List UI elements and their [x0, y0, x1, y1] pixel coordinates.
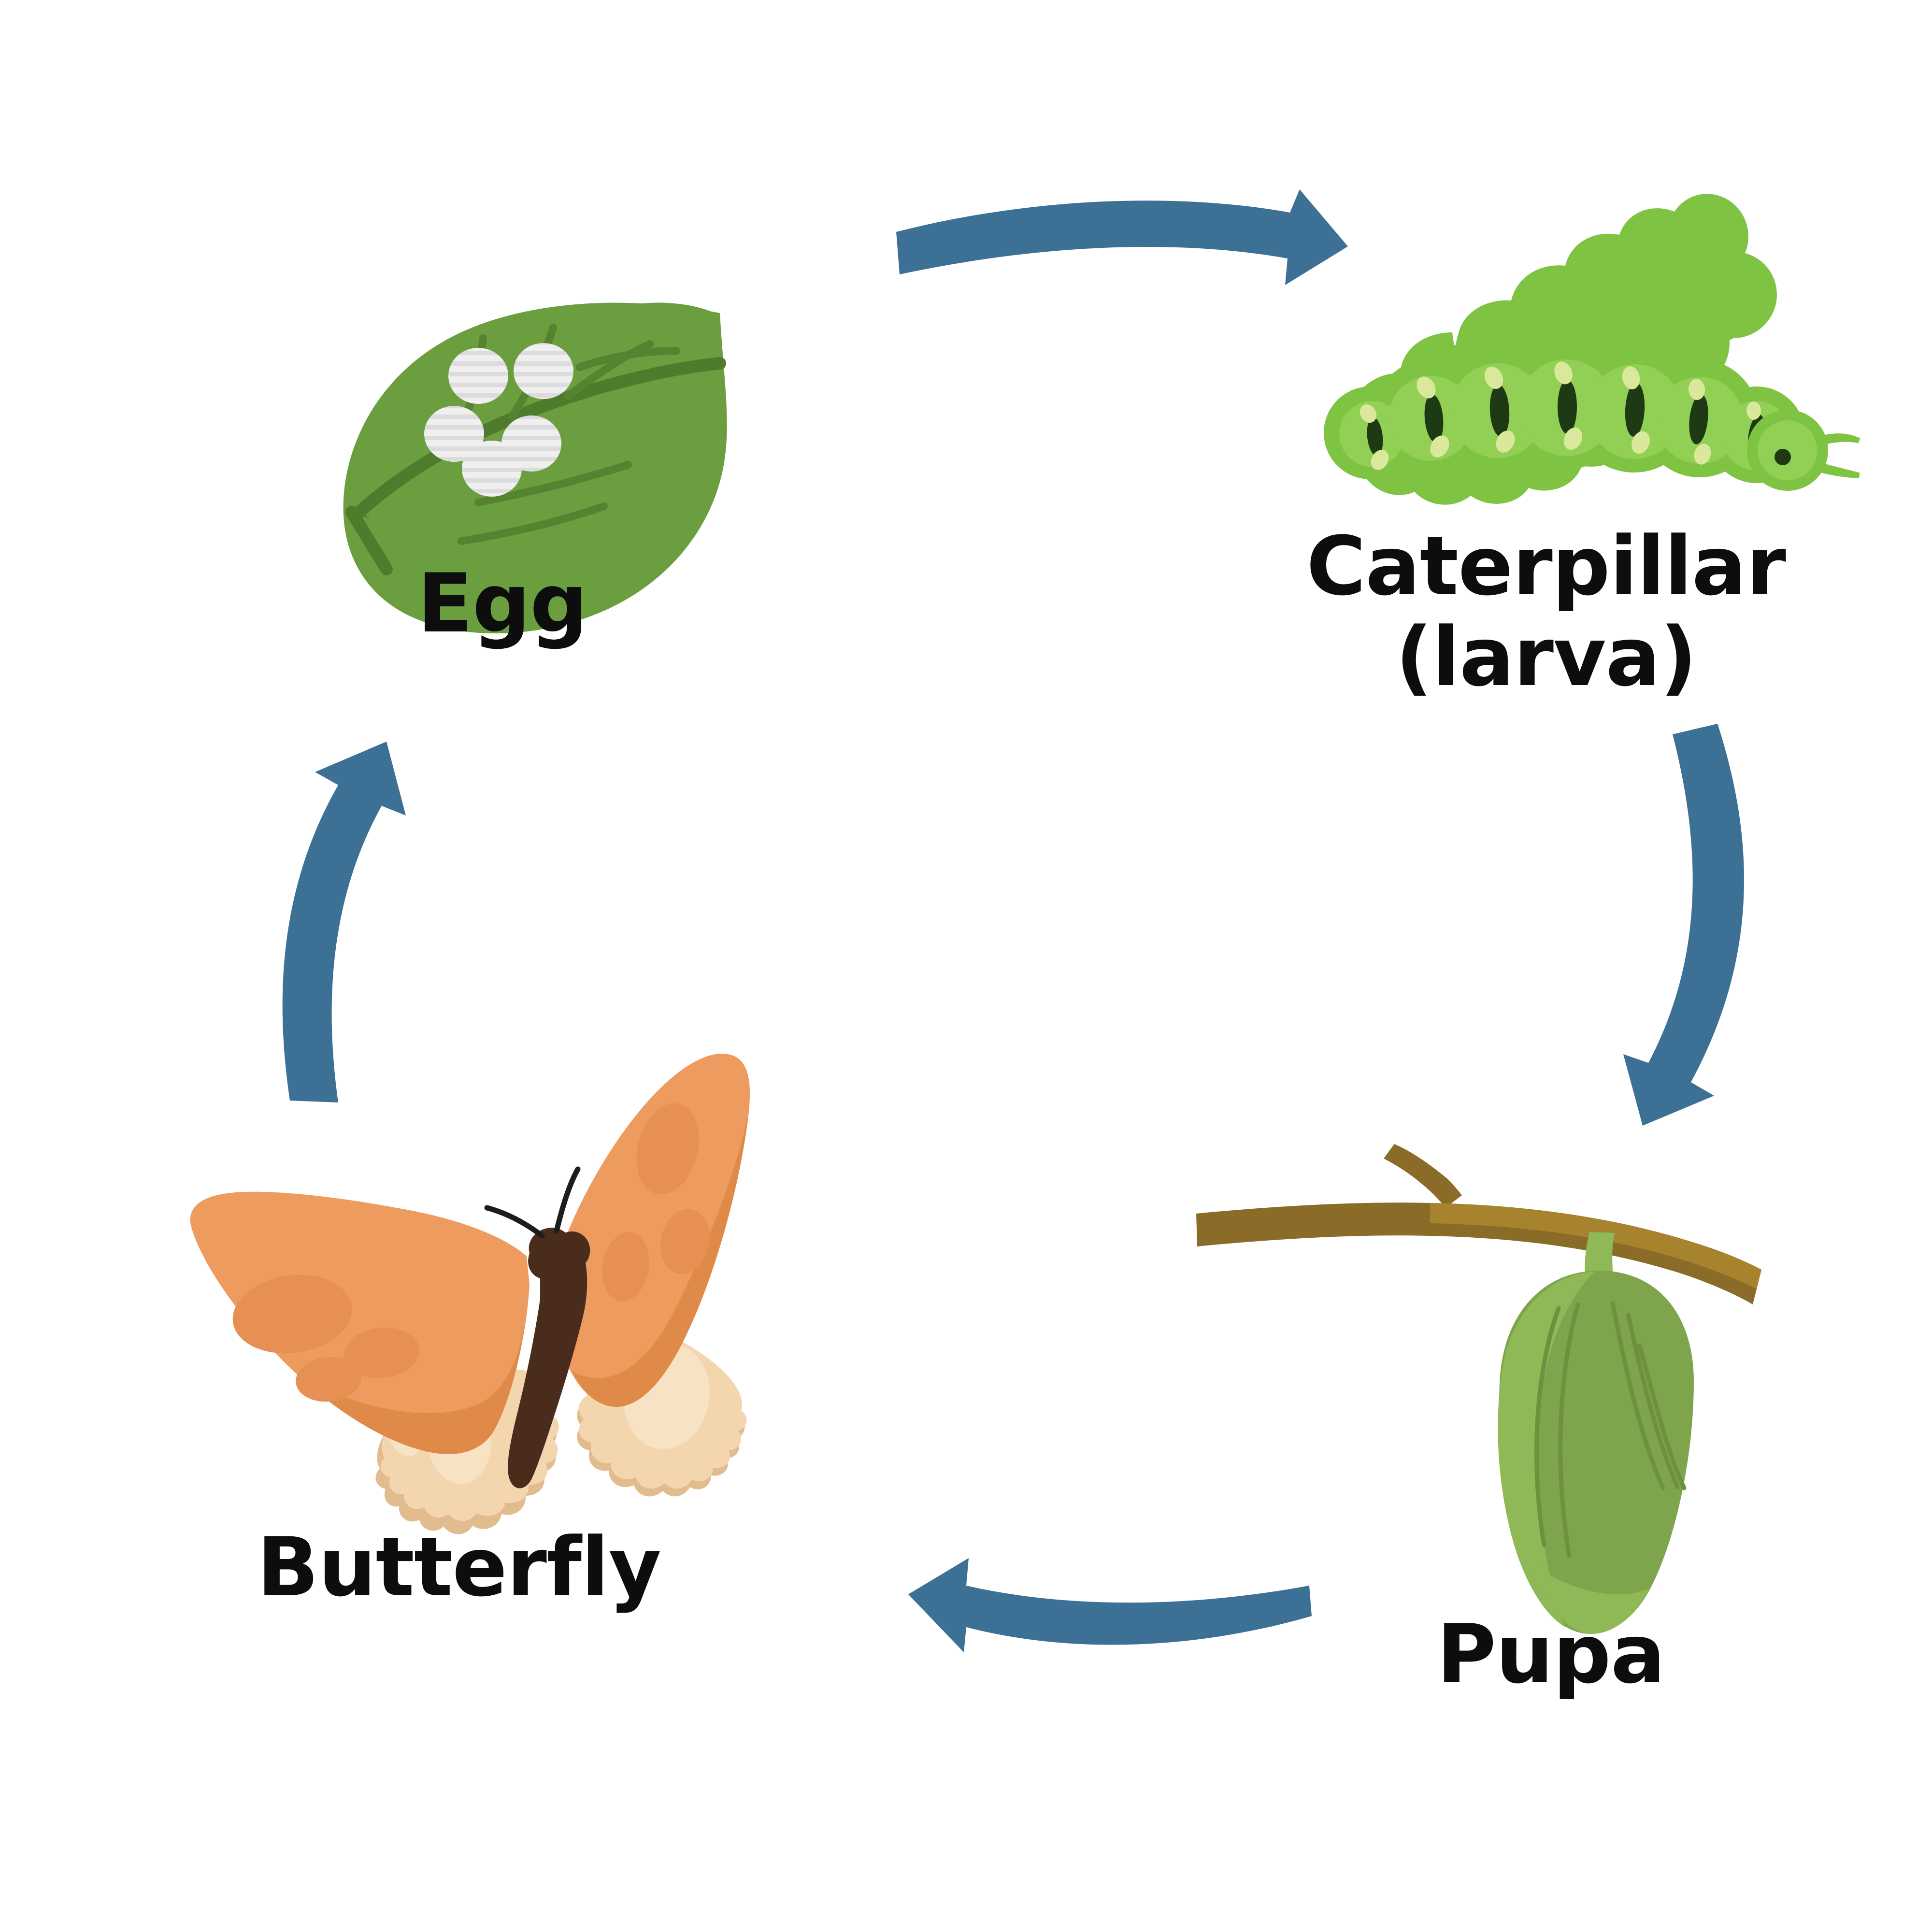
- stage-label-caterpillar: Caterpillar (larva): [1304, 521, 1788, 702]
- stage-label-butterfly: Butterfly: [217, 1522, 701, 1613]
- butterfly-icon: [190, 1054, 750, 1534]
- stage-label-pupa: Pupa: [1333, 1609, 1768, 1700]
- butterfly-antenna-icon: [487, 1208, 542, 1236]
- butterfly-life-cycle-diagram: Egg Caterpillar (larva) Pupa Butterfly: [0, 0, 1932, 1932]
- stage-label-egg: Egg: [319, 558, 686, 649]
